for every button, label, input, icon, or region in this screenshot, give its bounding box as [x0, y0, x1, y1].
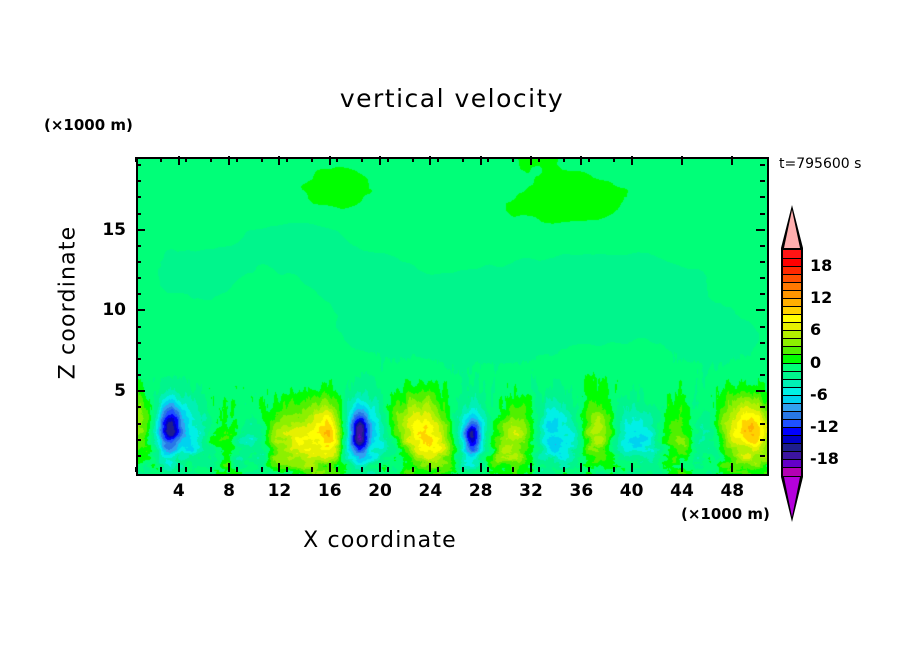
y-tick-minor [760, 358, 765, 360]
y-tick-label: 10 [86, 300, 126, 320]
colorbar-over-arrow-fill [784, 210, 800, 248]
colorbar-band-separator [783, 427, 801, 428]
x-tick-label: 36 [561, 481, 601, 501]
colorbar-tick-label: 12 [810, 288, 832, 307]
colorbar-tick-label: 0 [810, 353, 821, 372]
y-axis-unit-label: (×1000 m) [44, 116, 133, 134]
figure-canvas: vertical velocity (×1000 m) t=795600 s 4… [0, 0, 904, 654]
colorbar-tick-label: -6 [810, 385, 828, 404]
colorbar-band [783, 467, 801, 476]
x-tick-major [731, 156, 733, 165]
colorbar-band-separator [783, 322, 801, 323]
colorbar-band-separator [783, 403, 801, 404]
x-tick-minor [336, 157, 338, 162]
x-tick-major [731, 463, 733, 472]
colorbar-band-separator [783, 354, 801, 355]
x-tick-minor [236, 157, 238, 162]
y-tick-minor [760, 423, 765, 425]
x-tick-major [480, 156, 482, 165]
x-tick-major [228, 156, 230, 165]
x-tick-minor [512, 467, 514, 472]
x-tick-major [178, 463, 180, 472]
x-tick-label: 16 [310, 481, 350, 501]
x-tick-minor [412, 157, 414, 162]
colorbar-band-separator [783, 346, 801, 347]
y-tick-minor [760, 342, 765, 344]
x-tick-minor [286, 467, 288, 472]
colorbar-tick-label: 6 [810, 320, 821, 339]
x-tick-minor [361, 157, 363, 162]
y-tick-minor [136, 180, 141, 182]
x-tick-minor [311, 157, 313, 162]
y-tick-minor [760, 406, 765, 408]
colorbar-band-separator [783, 459, 801, 460]
x-tick-label: 20 [360, 481, 400, 501]
x-tick-minor [185, 157, 187, 162]
x-tick-major [278, 156, 280, 165]
x-tick-major [580, 463, 582, 472]
colorbar-band-separator [783, 371, 801, 372]
colorbar-tick-label: -12 [810, 417, 839, 436]
x-tick-label: 8 [209, 481, 249, 501]
y-tick-minor [760, 374, 765, 376]
x-tick-minor [185, 467, 187, 472]
y-axis-title: Z coordinate [56, 183, 81, 423]
x-tick-minor [563, 467, 565, 472]
colorbar-band-separator [783, 314, 801, 315]
x-tick-minor [286, 157, 288, 162]
x-tick-label: 40 [612, 481, 652, 501]
x-tick-label: 12 [259, 481, 299, 501]
colorbar[interactable]: 181260-6-12-18 [778, 205, 806, 520]
x-tick-minor [538, 467, 540, 472]
y-tick-minor [136, 455, 141, 457]
y-tick-minor [760, 326, 765, 328]
x-tick-major [379, 156, 381, 165]
y-tick-minor [760, 293, 765, 295]
x-tick-minor [437, 157, 439, 162]
y-tick-minor [760, 455, 765, 457]
x-tick-minor [210, 467, 212, 472]
y-tick-minor [760, 180, 765, 182]
y-tick-minor [760, 439, 765, 441]
x-tick-major [429, 463, 431, 472]
colorbar-band-separator [783, 306, 801, 307]
colorbar-tick-label: 18 [810, 256, 832, 275]
x-tick-major [681, 463, 683, 472]
colorbar-bands [781, 248, 803, 477]
colorbar-band-separator [783, 451, 801, 452]
y-tick-major [756, 309, 765, 311]
y-tick-minor [136, 245, 141, 247]
x-tick-minor [613, 467, 615, 472]
colorbar-band-separator [783, 363, 801, 364]
y-tick-major [136, 390, 145, 392]
x-tick-major [580, 156, 582, 165]
y-tick-minor [760, 164, 765, 166]
colorbar-band-separator [783, 258, 801, 259]
x-tick-minor [361, 467, 363, 472]
x-tick-minor [588, 467, 590, 472]
contour-plot-area[interactable] [136, 157, 769, 476]
y-tick-minor [136, 261, 141, 263]
colorbar-over-arrow [778, 205, 806, 248]
x-tick-minor [135, 157, 137, 162]
x-tick-minor [487, 157, 489, 162]
y-tick-minor [136, 164, 141, 166]
x-tick-label: 4 [159, 481, 199, 501]
x-tick-minor [160, 467, 162, 472]
x-tick-minor [135, 467, 137, 472]
y-tick-minor [136, 358, 141, 360]
page-title: vertical velocity [0, 84, 904, 113]
x-tick-minor [512, 157, 514, 162]
x-tick-major [228, 463, 230, 472]
x-tick-major [329, 463, 331, 472]
colorbar-band-separator [783, 379, 801, 380]
timestamp-annotation: t=795600 s [779, 156, 861, 172]
x-tick-major [530, 463, 532, 472]
x-tick-minor [462, 467, 464, 472]
y-tick-label: 15 [86, 220, 126, 240]
y-tick-minor [136, 293, 141, 295]
y-tick-minor [760, 213, 765, 215]
x-tick-minor [487, 467, 489, 472]
x-tick-minor [336, 467, 338, 472]
x-tick-label: 32 [511, 481, 551, 501]
x-tick-minor [538, 157, 540, 162]
x-tick-minor [311, 467, 313, 472]
x-tick-major [530, 156, 532, 165]
x-tick-minor [563, 157, 565, 162]
x-tick-minor [588, 157, 590, 162]
x-axis-title: X coordinate [0, 528, 760, 553]
colorbar-band-separator [783, 435, 801, 436]
y-tick-major [136, 229, 145, 231]
y-tick-label: 5 [86, 381, 126, 401]
y-tick-minor [136, 439, 141, 441]
colorbar-band-separator [783, 266, 801, 267]
x-tick-minor [236, 467, 238, 472]
x-tick-major [429, 156, 431, 165]
colorbar-band-separator [783, 419, 801, 420]
x-tick-minor [210, 157, 212, 162]
y-tick-minor [136, 326, 141, 328]
colorbar-under-arrow-fill [784, 477, 800, 517]
colorbar-band-separator [783, 395, 801, 396]
y-tick-minor [760, 245, 765, 247]
x-tick-label: 44 [662, 481, 702, 501]
y-tick-minor [136, 423, 141, 425]
colorbar-band-separator [783, 290, 801, 291]
x-tick-major [681, 156, 683, 165]
x-tick-minor [160, 157, 162, 162]
y-tick-major [756, 390, 765, 392]
colorbar-band-separator [783, 443, 801, 444]
x-tick-major [329, 156, 331, 165]
y-tick-minor [136, 374, 141, 376]
x-tick-minor [462, 157, 464, 162]
x-tick-minor [261, 157, 263, 162]
y-tick-minor [136, 213, 141, 215]
y-tick-major [756, 229, 765, 231]
x-tick-label: 24 [410, 481, 450, 501]
colorbar-band-separator [783, 411, 801, 412]
x-tick-label: 48 [712, 481, 752, 501]
colorbar-band-separator [783, 338, 801, 339]
y-tick-minor [136, 342, 141, 344]
colorbar-under-arrow [778, 477, 806, 522]
x-tick-minor [261, 467, 263, 472]
x-axis-unit-label: (×1000 m) [681, 505, 770, 523]
x-tick-minor [613, 157, 615, 162]
x-tick-minor [412, 467, 414, 472]
colorbar-band-separator [783, 330, 801, 331]
colorbar-band-separator [783, 274, 801, 275]
colorbar-band-separator [783, 387, 801, 388]
y-tick-major [136, 309, 145, 311]
colorbar-band-separator [783, 467, 801, 468]
y-tick-minor [136, 406, 141, 408]
y-tick-minor [760, 277, 765, 279]
x-tick-major [631, 156, 633, 165]
x-tick-major [379, 463, 381, 472]
x-tick-major [278, 463, 280, 472]
contour-field-canvas [138, 159, 767, 474]
colorbar-tick-label: -18 [810, 449, 839, 468]
x-tick-major [480, 463, 482, 472]
x-tick-major [178, 156, 180, 165]
x-tick-label: 28 [461, 481, 501, 501]
x-tick-major [631, 463, 633, 472]
y-tick-minor [760, 196, 765, 198]
x-tick-minor [387, 157, 389, 162]
y-tick-minor [760, 261, 765, 263]
colorbar-band-separator [783, 282, 801, 283]
x-tick-minor [387, 467, 389, 472]
y-tick-minor [136, 196, 141, 198]
colorbar-band-separator [783, 298, 801, 299]
y-tick-minor [136, 277, 141, 279]
x-tick-minor [437, 467, 439, 472]
